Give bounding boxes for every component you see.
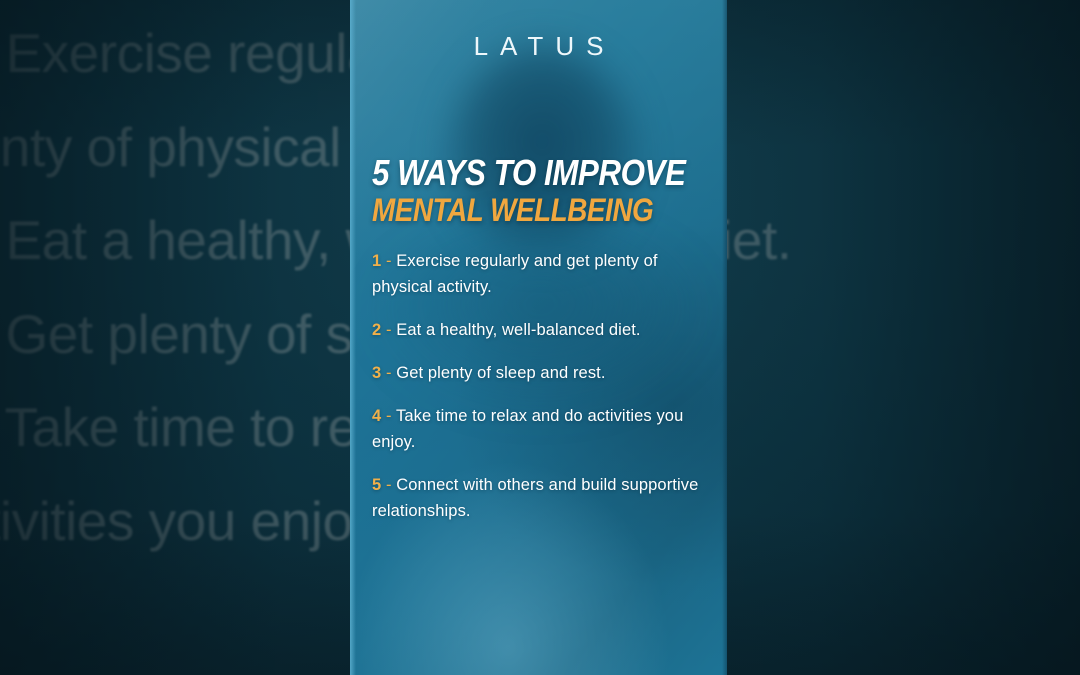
video-frame: MENTAL 1 - Exercise regularly and get pl… xyxy=(0,0,1080,675)
list-item-number: 2 xyxy=(372,321,381,339)
vertical-video-panel: LATUS 5 WAYS TO IMPROVE MENTAL WELLBEING… xyxy=(350,0,727,675)
list-item-number: 4 xyxy=(372,407,381,425)
list-item-number: 3 xyxy=(372,364,381,382)
list-item-separator: - xyxy=(386,476,392,494)
list-item: 5 - Connect with others and build suppor… xyxy=(372,472,712,524)
list-item-number: 5 xyxy=(372,476,381,494)
list-item: 4 - Take time to relax and do activities… xyxy=(372,403,712,455)
headline-line-accent: MENTAL WELLBEING xyxy=(372,194,668,226)
backdrop-item-text: activities you enjoy. xyxy=(0,490,390,552)
list-item-separator: - xyxy=(386,321,392,339)
headline-line-primary: 5 WAYS TO IMPROVE xyxy=(372,155,668,191)
list-item-separator: - xyxy=(386,252,392,270)
list-item-separator: - xyxy=(386,407,392,425)
list-item-text: Connect with others and build supportive… xyxy=(372,476,698,520)
headline-block: 5 WAYS TO IMPROVE MENTAL WELLBEING xyxy=(372,155,712,226)
list-item-number: 1 xyxy=(372,252,381,270)
panel-content: LATUS 5 WAYS TO IMPROVE MENTAL WELLBEING… xyxy=(350,0,727,675)
list-item-text: Take time to relax and do activities you… xyxy=(372,407,683,451)
list-item-text: Eat a healthy, well-balanced diet. xyxy=(396,321,640,339)
list-item: 3 - Get plenty of sleep and rest. xyxy=(372,360,712,386)
latus-logo: LATUS xyxy=(350,31,727,62)
list-item-separator: - xyxy=(386,364,392,382)
tips-list: 1 - Exercise regularly and get plenty of… xyxy=(372,248,712,525)
list-item: 1 - Exercise regularly and get plenty of… xyxy=(372,248,712,300)
list-item-text: Exercise regularly and get plenty of phy… xyxy=(372,252,658,296)
list-item: 2 - Eat a healthy, well-balanced diet. xyxy=(372,317,712,343)
list-item-text: Get plenty of sleep and rest. xyxy=(396,364,605,382)
